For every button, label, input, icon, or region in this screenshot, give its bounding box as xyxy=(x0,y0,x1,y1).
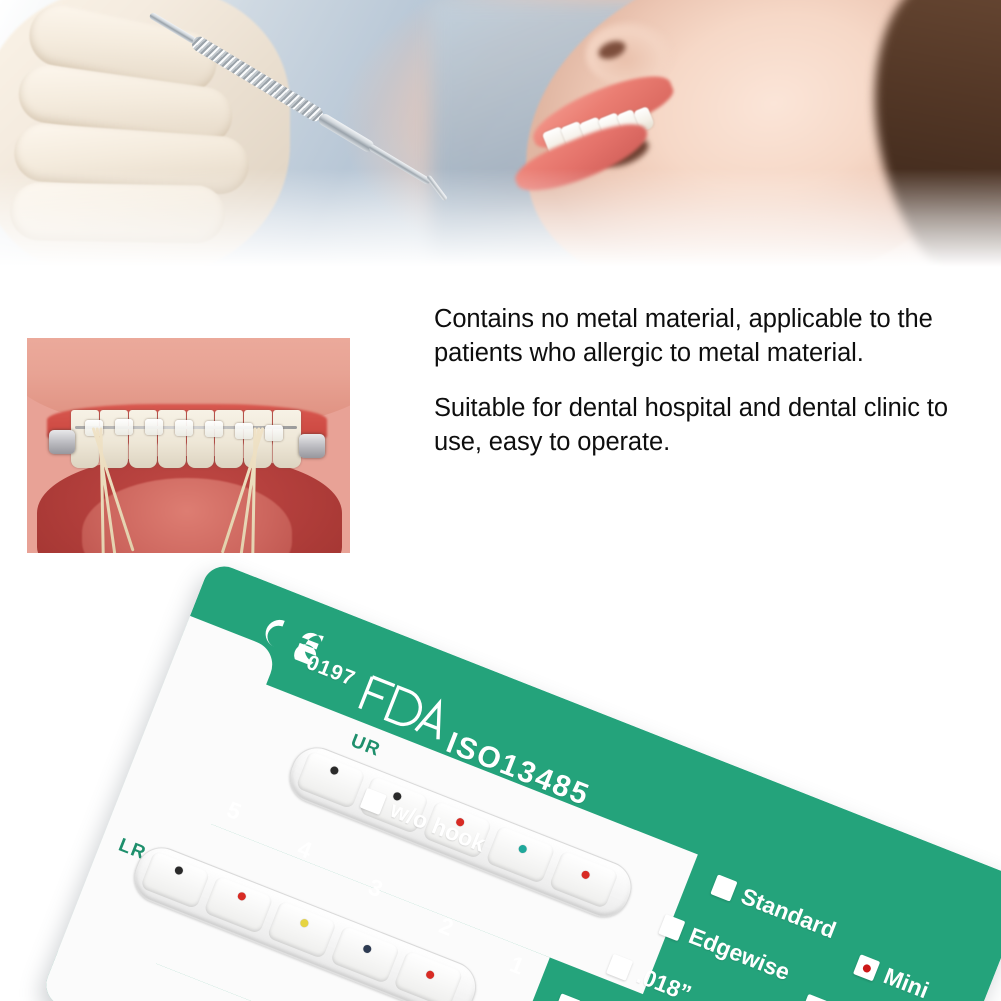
bracket-kit-blister-card: UR LR xyxy=(40,560,1001,1001)
product-listing-page: Contains no metal material, applicable t… xyxy=(0,0,1001,1001)
product-card-stage: UR LR xyxy=(0,0,1001,1001)
